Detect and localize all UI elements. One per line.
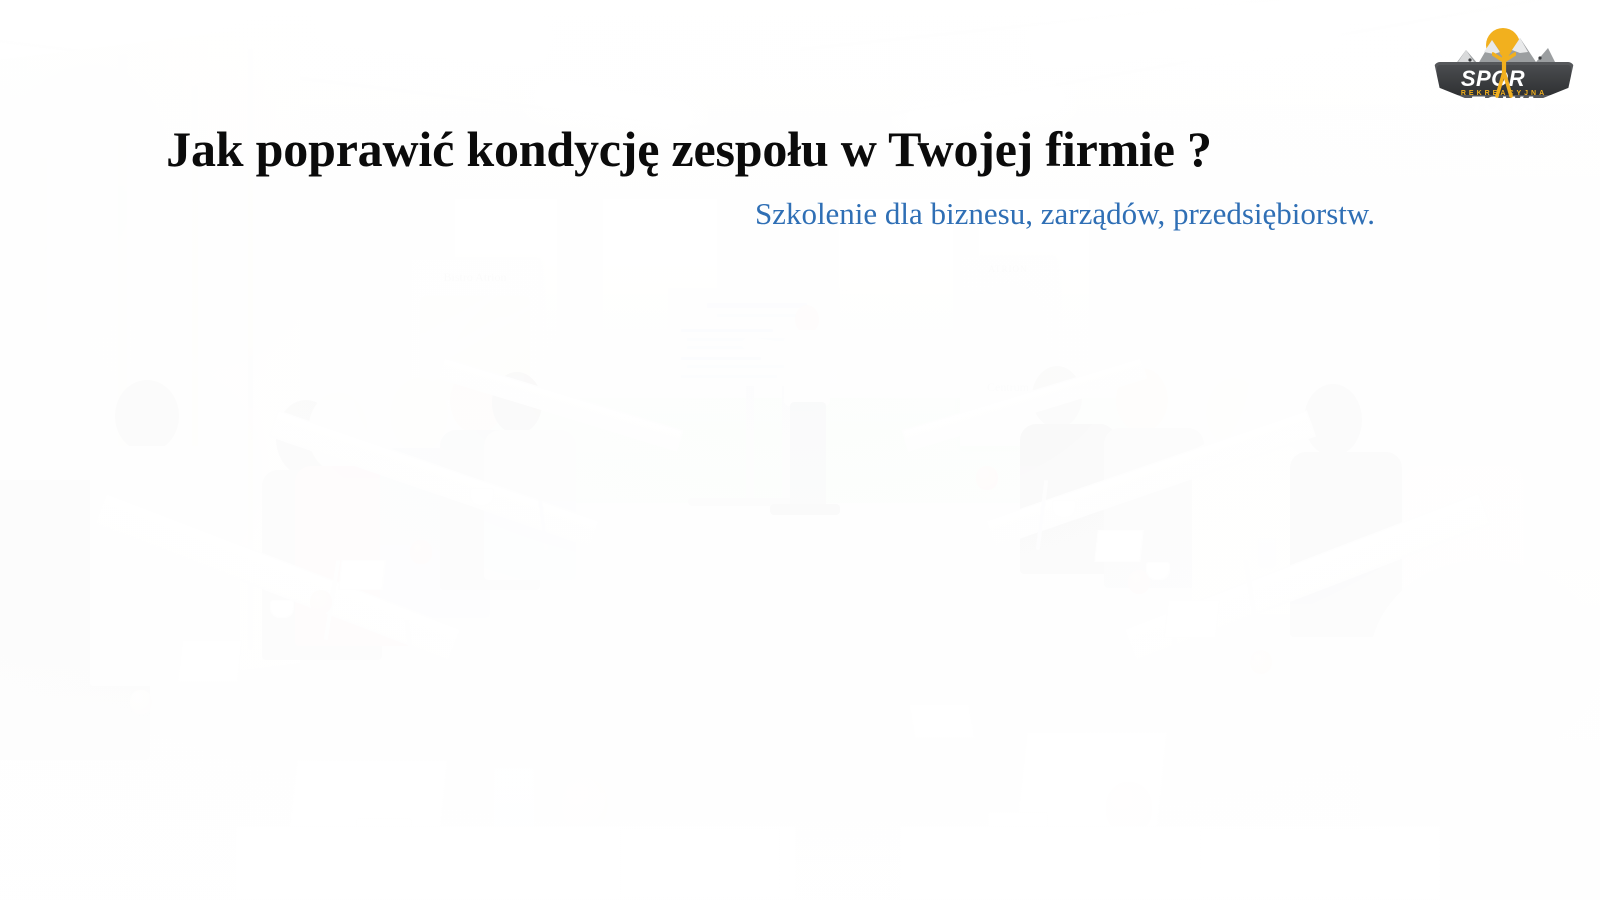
page-subtitle: Szkolenie dla biznesu, zarządów, przedsi… [755, 196, 1375, 232]
page-title: Jak poprawić kondycję zespołu w Twojej f… [0, 122, 1378, 176]
sportowa-logo[interactable]: SPORTOWA REKREACYJNA [1430, 24, 1578, 110]
promo-banner: Bistro Atrion ATRION Centrum Atri [0, 0, 1600, 900]
text-layer: Jak poprawić kondycję zespołu w Twojej f… [0, 0, 1600, 900]
logo-tagline: REKREACYJNA [1434, 90, 1574, 97]
